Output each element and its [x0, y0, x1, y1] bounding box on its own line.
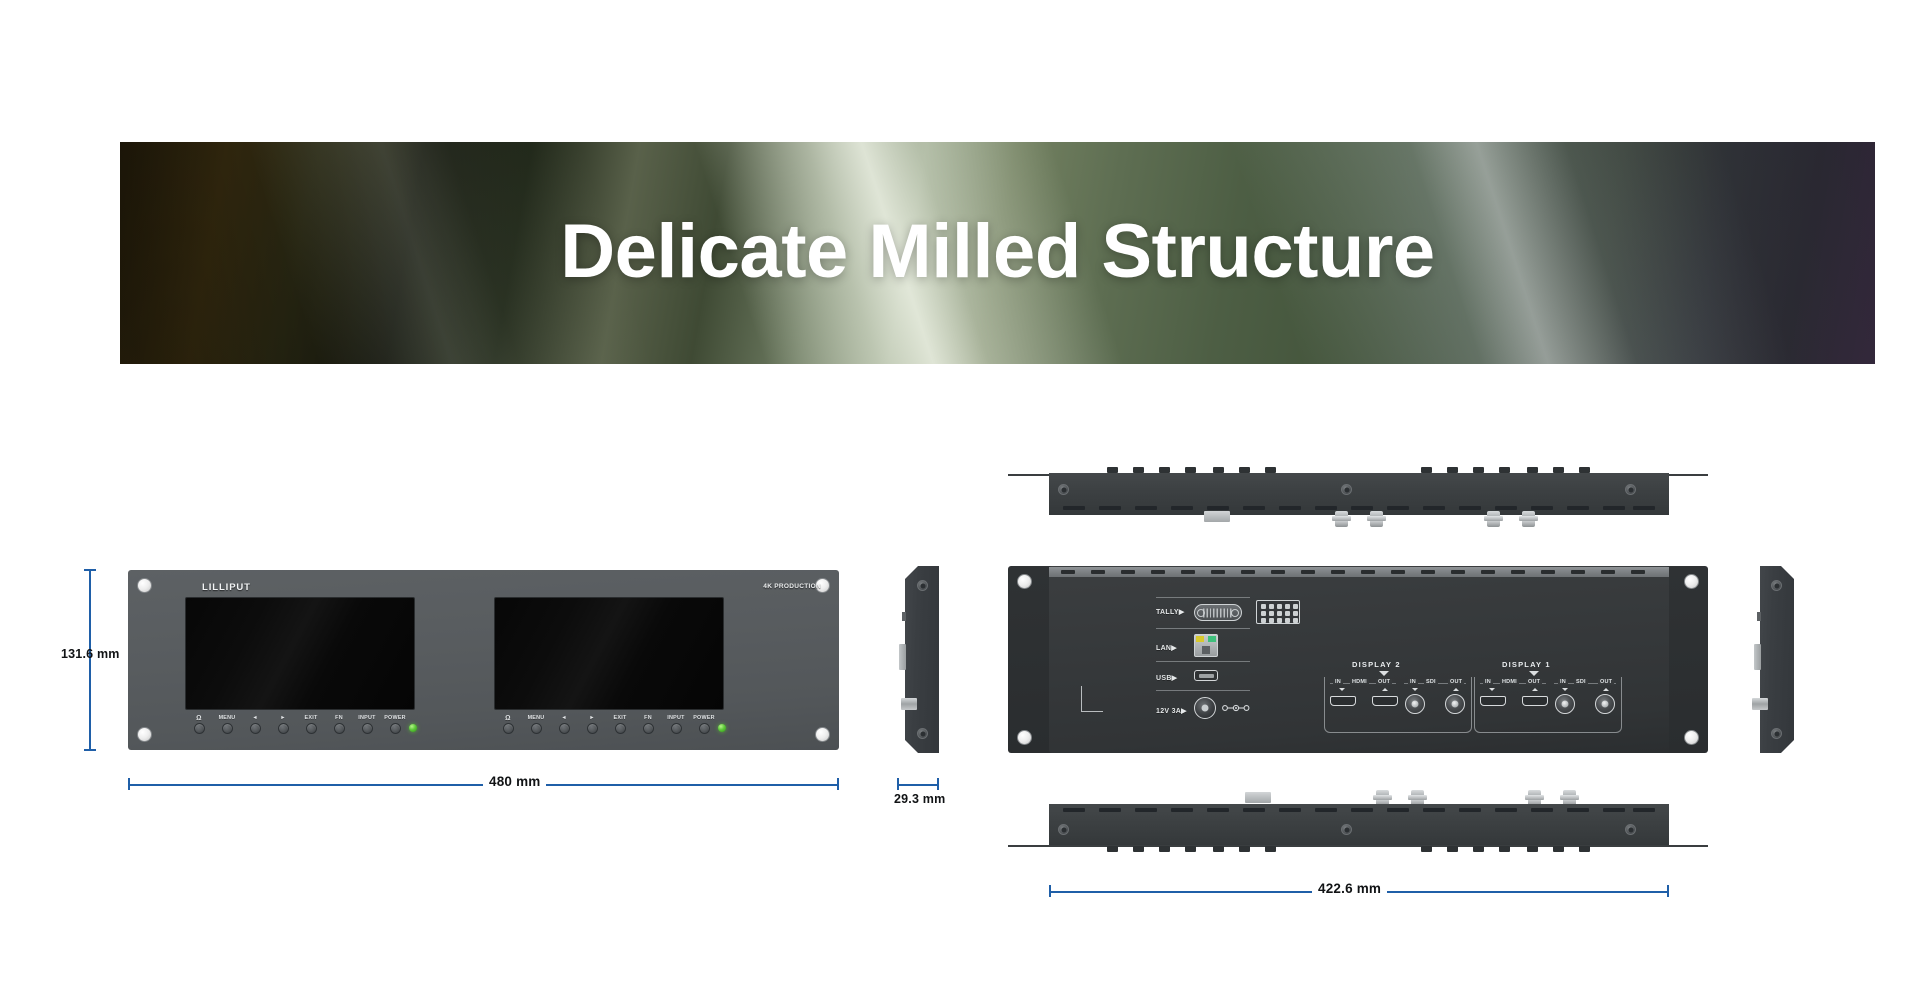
lan-port[interactable] [1194, 634, 1218, 657]
menu-button[interactable]: MENU [216, 715, 238, 734]
headphone-button[interactable]: Ω [497, 715, 519, 734]
brand-logo: LILLIPUT [202, 582, 251, 593]
fn-label: FN [637, 715, 659, 722]
sdi-1-group-label: SDI [1574, 679, 1588, 685]
next-label: ► [272, 715, 294, 722]
rack-hole [1684, 730, 1699, 745]
rack-hole [137, 727, 152, 742]
input-knob[interactable] [671, 723, 682, 734]
sdi-1-in-port[interactable] [1555, 694, 1575, 714]
dimension-height-label: 131.6 mm [55, 647, 126, 661]
menu-button[interactable]: MENU [525, 715, 547, 734]
hdmi-1-group-label: HDMI [1500, 679, 1519, 685]
hdmi-1-in-port[interactable] [1480, 696, 1506, 706]
monitor-left-controls: Ω MENU ◄ ► EXIT FN [185, 715, 415, 739]
bottom-usb-stub [1245, 792, 1271, 803]
input-knob[interactable] [362, 723, 373, 734]
io-divider [1156, 661, 1250, 662]
display-2-marker-icon [1379, 671, 1389, 676]
menu-label: MENU [216, 715, 238, 722]
side-connector-tab [1754, 644, 1761, 670]
hdmi-1-out-arrow-icon [1532, 688, 1538, 691]
top-bnc-stub [1370, 511, 1383, 527]
top-bnc-stub [1487, 511, 1500, 527]
display-1-marker-icon [1529, 671, 1539, 676]
input-button[interactable]: INPUT [356, 715, 378, 734]
dimension-depth-label: 29.3 mm [888, 792, 951, 806]
power-knob[interactable] [390, 723, 401, 734]
tally-pins [1203, 608, 1233, 617]
power-label: POWER [693, 715, 715, 722]
hdmi-2-in-arrow-icon [1339, 688, 1345, 691]
rack-hole [1017, 574, 1032, 589]
bottom-edge-tabs [1049, 846, 1669, 853]
headphone-icon: Ω [497, 715, 519, 722]
sdi-1-out-port[interactable] [1595, 694, 1615, 714]
side-bnc-stub [901, 698, 917, 710]
rack-hole [815, 727, 830, 742]
fn-button[interactable]: FN [328, 715, 350, 734]
power-button[interactable]: POWER [693, 715, 715, 734]
rack-hole [1017, 730, 1032, 745]
input-label: INPUT [665, 715, 687, 722]
menu-knob[interactable] [531, 723, 542, 734]
usb-port[interactable] [1194, 670, 1218, 681]
prev-label: ◄ [244, 715, 266, 722]
top-vent-row [1063, 506, 1655, 511]
next-button[interactable]: ► [581, 715, 603, 734]
sdi-1-out-arrow-icon [1603, 688, 1609, 691]
side-screw-bottom [1771, 728, 1782, 739]
hdmi-2-group-label: HDMI [1350, 679, 1369, 685]
bottom-port-tabs [1049, 790, 1669, 804]
display-group-2: DISPLAY 2 HDMI IN OUT SDI IN OUT [1324, 660, 1472, 740]
dc-power-label: 12V 3A▶ [1156, 707, 1187, 715]
sdi-2-out-label: OUT [1448, 679, 1464, 685]
monitor-left-screen [185, 597, 415, 710]
hero-banner: Delicate Milled Structure [120, 142, 1875, 364]
top-view [1008, 460, 1708, 528]
side-edge-notch [1757, 612, 1761, 621]
hdmi-2-out-port[interactable] [1372, 696, 1398, 706]
side-screw-top [917, 580, 928, 591]
io-divider [1156, 628, 1250, 629]
exit-knob[interactable] [306, 723, 317, 734]
lan-led-activity [1196, 636, 1204, 642]
orientation-mark [1081, 686, 1103, 712]
bottom-screw-right [1625, 824, 1636, 835]
power-led [409, 724, 417, 732]
exit-button[interactable]: EXIT [300, 715, 322, 734]
hdmi-1-out-label: OUT [1526, 679, 1542, 685]
top-screw-center [1341, 484, 1352, 495]
display-group-1: DISPLAY 1 HDMI IN OUT SDI IN OUT [1474, 660, 1622, 740]
sdi-1-out-label: OUT [1598, 679, 1614, 685]
hdmi-1-in-label: IN [1483, 679, 1493, 685]
monitor-right-screen [494, 597, 724, 710]
hdmi-1-out-port[interactable] [1522, 696, 1548, 706]
dimension-width-label: 480 mm [483, 774, 546, 789]
headphone-jack[interactable] [503, 723, 514, 734]
fn-label: FN [328, 715, 350, 722]
prev-label: ◄ [553, 715, 575, 722]
top-screw-left [1058, 484, 1069, 495]
prev-button[interactable]: ◄ [244, 715, 266, 734]
tally-label: TALLY▶ [1156, 608, 1185, 616]
menu-label: MENU [525, 715, 547, 722]
display-1-title: DISPLAY 1 [1502, 660, 1551, 669]
top-port-tabs [1049, 467, 1669, 474]
sdi-1-in-arrow-icon [1562, 688, 1568, 691]
sdi-2-group-label: SDI [1424, 679, 1438, 685]
page-title: Delicate Milled Structure [120, 208, 1875, 295]
hdmi-1-in-arrow-icon [1489, 688, 1495, 691]
monitor-right-controls: Ω MENU ◄ ► EXIT FN [494, 715, 724, 739]
sdi-2-out-arrow-icon [1453, 688, 1459, 691]
dip-switch-block[interactable] [1256, 600, 1300, 624]
sdi-2-in-label: IN [1408, 679, 1418, 685]
model-mark: 4K PRODUCTION [763, 583, 821, 590]
rear-view: TALLY▶ LAN▶ USB▶ 12V 3A▶ [1008, 566, 1708, 753]
usb-label: USB▶ [1156, 674, 1177, 682]
next-button[interactable]: ► [272, 715, 294, 734]
exit-label: EXIT [300, 715, 322, 722]
side-bnc-stub [1752, 698, 1768, 710]
hdmi-2-in-port[interactable] [1330, 696, 1356, 706]
bottom-vent-row [1063, 808, 1655, 813]
front-view: LILLIPUT 4K PRODUCTION Ω MENU ◄ ► EXIT [128, 570, 839, 750]
top-bnc-stub [1522, 511, 1535, 527]
menu-knob[interactable] [222, 723, 233, 734]
tally-port[interactable] [1194, 604, 1242, 621]
side-view-left-body [905, 566, 939, 753]
rear-vent-strip [1049, 567, 1669, 577]
exit-knob[interactable] [615, 723, 626, 734]
side-connector-tab [899, 644, 906, 670]
lan-slot [1202, 646, 1210, 654]
hdmi-2-in-label: IN [1333, 679, 1343, 685]
fn-button[interactable]: FN [637, 715, 659, 734]
power-led [718, 724, 726, 732]
top-screw-right [1625, 484, 1636, 495]
side-screw-bottom [917, 728, 928, 739]
sdi-2-in-port[interactable] [1405, 694, 1425, 714]
prev-button[interactable]: ◄ [553, 715, 575, 734]
top-usb-stub [1204, 511, 1230, 522]
lan-led-link [1208, 636, 1216, 642]
exit-button[interactable]: EXIT [609, 715, 631, 734]
prev-knob[interactable] [250, 723, 261, 734]
io-divider [1156, 597, 1250, 598]
headphone-icon: Ω [188, 715, 210, 722]
sdi-2-out-port[interactable] [1445, 694, 1465, 714]
side-edge-notch [902, 612, 906, 621]
fn-knob[interactable] [643, 723, 654, 734]
exit-label: EXIT [609, 715, 631, 722]
sdi-1-in-label: IN [1558, 679, 1568, 685]
bottom-screw-left [1058, 824, 1069, 835]
input-button[interactable]: INPUT [665, 715, 687, 734]
page-root: Delicate Milled Structure LILLIPUT 4K PR… [0, 0, 1920, 1006]
dimension-rear-width-label: 422.6 mm [1312, 881, 1387, 896]
display-2-title: DISPLAY 2 [1352, 660, 1401, 669]
side-screw-top [1771, 580, 1782, 591]
rack-hole [137, 578, 152, 593]
top-bnc-stub [1335, 511, 1348, 527]
next-label: ► [581, 715, 603, 722]
fn-knob[interactable] [334, 723, 345, 734]
rack-hole [1684, 574, 1699, 589]
bottom-view [1008, 790, 1708, 858]
headphone-jack[interactable] [194, 723, 205, 734]
headphone-button[interactable]: Ω [188, 715, 210, 734]
io-divider [1156, 690, 1250, 691]
dc-polarity-icon [1222, 703, 1252, 713]
power-label: POWER [384, 715, 406, 722]
power-button[interactable]: POWER [384, 715, 406, 734]
side-view-right-body [1760, 566, 1794, 753]
lan-label: LAN▶ [1156, 644, 1177, 652]
hdmi-2-out-arrow-icon [1382, 688, 1388, 691]
power-knob[interactable] [699, 723, 710, 734]
prev-knob[interactable] [559, 723, 570, 734]
side-view-right [1760, 566, 1802, 753]
dc-power-port[interactable] [1194, 697, 1216, 719]
side-view-left [897, 566, 939, 753]
next-knob[interactable] [587, 723, 598, 734]
sdi-2-in-arrow-icon [1412, 688, 1418, 691]
input-label: INPUT [356, 715, 378, 722]
hdmi-2-out-label: OUT [1376, 679, 1392, 685]
bottom-screw-center [1341, 824, 1352, 835]
next-knob[interactable] [278, 723, 289, 734]
